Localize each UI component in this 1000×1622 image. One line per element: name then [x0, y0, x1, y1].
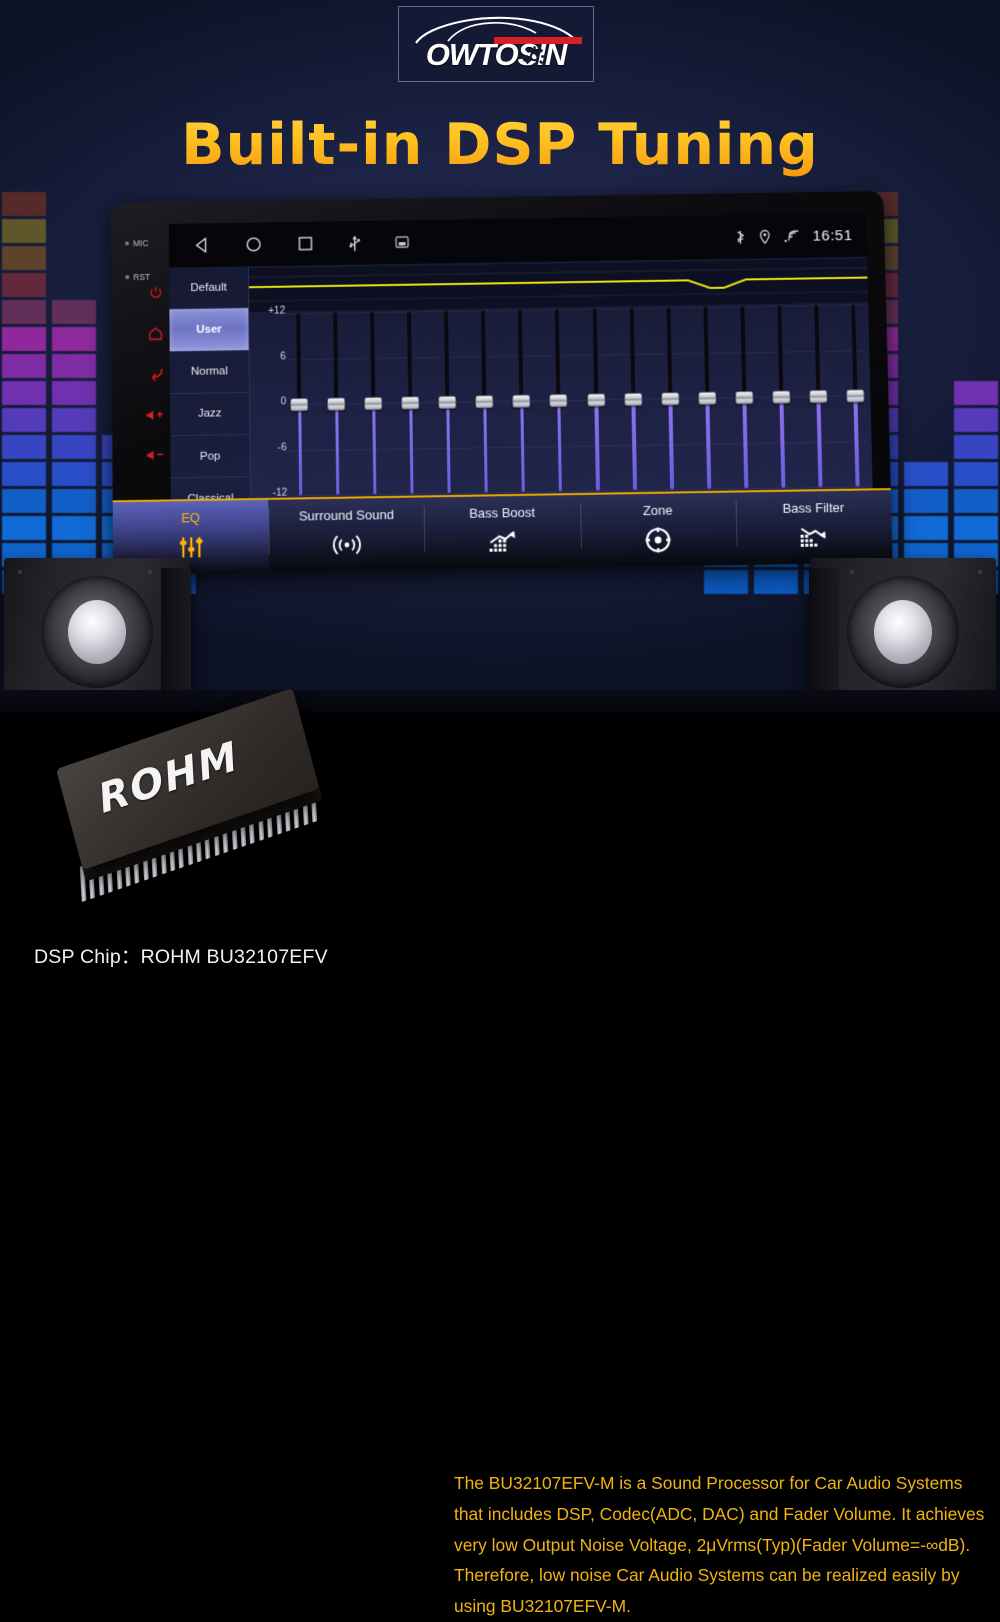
background-eq-segment	[52, 516, 96, 540]
eq-slider-band-1[interactable]	[287, 313, 311, 495]
tab-bass-boost[interactable]: Bass Boost	[424, 495, 581, 570]
slider-track-upper	[333, 313, 338, 404]
dsp-tab-bar[interactable]: EQSurround SoundBass BoostZoneBass Filte…	[113, 488, 893, 575]
slider-track-upper	[296, 313, 301, 404]
speaker-cone	[847, 576, 959, 688]
wifi-icon	[784, 229, 800, 242]
sdcard-icon[interactable]	[395, 236, 409, 248]
bluetooth-icon	[735, 229, 746, 244]
slider-track-upper	[592, 309, 598, 400]
speaker-screw	[18, 570, 22, 574]
speaker-right	[810, 558, 996, 706]
background-eq-segment	[52, 354, 96, 378]
slider-track-upper	[370, 312, 375, 403]
eq-gain-scale: +1260-6-12	[251, 312, 289, 513]
slider-thumb[interactable]	[438, 396, 456, 409]
background-eq-segment	[904, 516, 948, 540]
background-eq-segment	[52, 408, 96, 432]
eq-preset-jazz[interactable]: Jazz	[170, 393, 249, 437]
chip-description-text: The BU32107EFV-M is a Sound Processor fo…	[454, 1468, 988, 1622]
tab-surround-sound[interactable]: Surround Sound	[268, 497, 425, 572]
background-eq-segment	[954, 489, 998, 513]
eq-slider-band-10[interactable]	[620, 308, 645, 490]
sound-waves-icon[interactable]	[331, 528, 362, 563]
slider-track-upper	[814, 305, 820, 396]
system-status-icons: 16:51	[735, 227, 853, 246]
slider-thumb[interactable]	[809, 390, 827, 403]
eq-scale-label: 0	[281, 396, 287, 407]
eq-slider-band-5[interactable]	[435, 311, 460, 493]
background-eq-segment	[2, 219, 46, 243]
slider-thumb[interactable]	[661, 392, 679, 405]
slider-thumb[interactable]	[698, 392, 716, 405]
tab-label: Surround Sound	[268, 500, 424, 529]
background-eq-bar	[2, 192, 46, 594]
speaker-screw	[978, 570, 982, 574]
eq-slider-band-6[interactable]	[472, 310, 497, 492]
speaker-cone	[41, 576, 153, 688]
rst-dot-icon	[125, 275, 129, 279]
eq-slider-band-11[interactable]	[657, 307, 683, 489]
usb-icon[interactable]	[348, 234, 361, 251]
back-triangle-icon[interactable]	[193, 236, 211, 254]
speaker-dust-cap	[68, 600, 126, 664]
eq-preset-label: Default	[190, 281, 226, 294]
eq-preset-user[interactable]: User	[169, 308, 248, 351]
background-eq-segment	[52, 462, 96, 486]
speaker-left	[4, 558, 190, 706]
background-eq-segment	[2, 462, 46, 486]
slider-track-upper	[407, 312, 412, 403]
background-eq-segment	[2, 516, 46, 540]
slider-thumb[interactable]	[846, 389, 864, 402]
background-eq-segment	[2, 273, 46, 297]
eq-scale-label: 6	[280, 351, 286, 362]
volume-down-key-icon[interactable]	[145, 447, 167, 461]
slider-track-lower	[557, 400, 562, 491]
android-navigation-bar[interactable]	[193, 233, 409, 254]
slider-track-lower	[298, 404, 302, 495]
falling-bars-arrow-icon[interactable]	[800, 520, 829, 555]
slider-track-lower	[335, 404, 340, 495]
background-eq-segment	[2, 327, 46, 351]
slider-track-upper	[629, 308, 635, 399]
background-eq-segment	[754, 570, 798, 594]
background-eq-segment	[52, 327, 96, 351]
background-eq-segment	[904, 462, 948, 486]
slider-thumb[interactable]	[550, 394, 568, 407]
eq-slider-band-9[interactable]	[583, 309, 608, 491]
background-eq-segment	[904, 489, 948, 513]
slider-thumb[interactable]	[772, 390, 790, 403]
eq-preset-label: User	[196, 323, 222, 335]
eq-preset-label: Pop	[200, 450, 221, 462]
target-crosshair-icon[interactable]	[645, 523, 672, 558]
slider-track-upper	[740, 306, 746, 397]
background-eq-segment	[2, 435, 46, 459]
power-key-icon[interactable]	[148, 286, 163, 301]
slider-thumb[interactable]	[327, 397, 345, 410]
rohm-chip-image: ROHM	[56, 688, 334, 924]
logo-wordmark: OWTOSIN	[402, 34, 590, 76]
background-eq-segment	[52, 300, 96, 324]
recents-square-icon[interactable]	[296, 235, 314, 253]
tab-label: Zone	[580, 496, 736, 525]
home-circle-icon[interactable]	[245, 235, 263, 253]
brand-logo: OWTOSIN	[398, 6, 594, 82]
slider-track-lower	[668, 398, 673, 489]
background-eq-segment	[52, 489, 96, 513]
slider-track-lower	[631, 399, 636, 490]
background-eq-segment	[2, 408, 46, 432]
slider-track-lower	[706, 398, 711, 489]
eq-preset-label: Normal	[191, 365, 228, 378]
slider-track-lower	[743, 397, 748, 488]
tab-label: EQ	[113, 503, 269, 532]
speaker-dust-cap	[874, 600, 932, 664]
slider-track-upper	[555, 309, 561, 400]
eq-scale-label: -6	[278, 442, 287, 453]
eq-slider-band-8[interactable]	[546, 309, 571, 491]
speaker-screw	[148, 570, 152, 574]
eq-response-curve	[249, 259, 868, 312]
page-title: Built-in DSP Tuning	[0, 112, 1000, 178]
background-eq-segment	[954, 435, 998, 459]
slider-thumb[interactable]	[587, 393, 605, 406]
slider-track-upper	[703, 307, 709, 398]
slider-track-upper	[518, 310, 523, 401]
slider-track-lower	[409, 402, 414, 493]
eq-slider-band-16[interactable]	[842, 304, 868, 486]
background-eq-segment	[954, 381, 998, 405]
eq-slider-band-12[interactable]	[694, 307, 720, 489]
slider-track-lower	[780, 397, 786, 488]
rising-bars-arrow-icon[interactable]	[488, 525, 517, 560]
slider-thumb[interactable]	[401, 396, 419, 409]
hero-section: OWTOSIN Built-in DSP Tuning	[0, 0, 1000, 712]
home-key-icon[interactable]	[148, 326, 164, 340]
slider-track-lower	[817, 396, 823, 487]
eq-band-sliders[interactable]	[287, 304, 868, 495]
stage-floor	[0, 690, 1000, 712]
tab-zone[interactable]: Zone	[580, 493, 737, 568]
background-eq-segment	[52, 435, 96, 459]
eq-preset-pop[interactable]: Pop	[170, 435, 250, 479]
chip-caption: DSP Chip：ROHM BU32107EFV	[34, 940, 414, 969]
background-eq-segment	[2, 300, 46, 324]
status-clock: 16:51	[812, 227, 852, 244]
volume-up-key-icon[interactable]	[145, 407, 167, 421]
speaker-screw	[850, 570, 854, 574]
slider-track-lower	[372, 403, 377, 494]
slider-track-lower	[594, 399, 599, 490]
bottom-section: ROHM DSP Chip：ROHM BU32107EFV The BU3210…	[0, 712, 1000, 1000]
slider-track-upper	[777, 306, 783, 397]
slider-thumb[interactable]	[290, 398, 308, 411]
slider-track-lower	[483, 401, 488, 492]
background-eq-segment	[954, 516, 998, 540]
slider-track-upper	[666, 308, 672, 399]
slider-track-upper	[444, 311, 449, 402]
eq-slider-band-2[interactable]	[324, 313, 348, 495]
slider-thumb[interactable]	[476, 395, 494, 408]
background-eq-segment	[954, 408, 998, 432]
eq-slider-band-14[interactable]	[768, 306, 794, 488]
eq-slider-band-7[interactable]	[509, 310, 534, 492]
background-eq-segment	[2, 381, 46, 405]
slider-thumb[interactable]	[735, 391, 753, 404]
slider-thumb[interactable]	[624, 393, 642, 406]
background-eq-segment	[2, 192, 46, 216]
slider-thumb[interactable]	[364, 397, 382, 410]
car-head-unit-device: MIC RST	[111, 191, 893, 575]
eq-slider-band-13[interactable]	[731, 306, 757, 488]
back-key-icon[interactable]	[147, 366, 164, 381]
eq-slider-band-15[interactable]	[805, 305, 831, 487]
eq-preset-normal[interactable]: Normal	[170, 351, 249, 394]
tab-label: Bass Filter	[735, 493, 891, 522]
slider-track-upper	[481, 310, 486, 401]
slider-track-lower	[854, 395, 860, 486]
slider-track-lower	[520, 401, 525, 492]
eq-slider-band-3[interactable]	[361, 312, 385, 494]
dsp-chip-area: ROHM DSP Chip：ROHM BU32107EFV	[0, 712, 430, 1000]
slider-track-upper	[851, 305, 857, 396]
background-eq-segment	[52, 381, 96, 405]
background-eq-segment	[2, 489, 46, 513]
location-pin-icon	[759, 229, 771, 244]
background-eq-segment	[2, 246, 46, 270]
eq-preset-label: Jazz	[198, 408, 222, 420]
tab-bass-filter[interactable]: Bass Filter	[735, 490, 892, 565]
slider-thumb[interactable]	[513, 395, 531, 408]
eq-slider-band-4[interactable]	[398, 311, 422, 493]
eq-scale-label: +12	[268, 306, 285, 317]
background-eq-bar	[52, 300, 96, 594]
background-eq-segment	[954, 462, 998, 486]
tab-label: Bass Boost	[424, 498, 580, 527]
slider-track-lower	[446, 402, 451, 493]
mic-dot-icon	[125, 241, 129, 245]
chip-description: The BU32107EFV-M is a Sound Processor fo…	[454, 1468, 988, 1622]
background-eq-segment	[2, 354, 46, 378]
background-eq-segment	[704, 570, 748, 594]
speaker-side-panel	[161, 568, 191, 698]
chip-logo-text: ROHM	[94, 733, 244, 823]
eq-preset-default[interactable]: Default	[169, 266, 248, 309]
gear-icon	[524, 46, 545, 67]
speaker-side-panel	[809, 568, 839, 698]
